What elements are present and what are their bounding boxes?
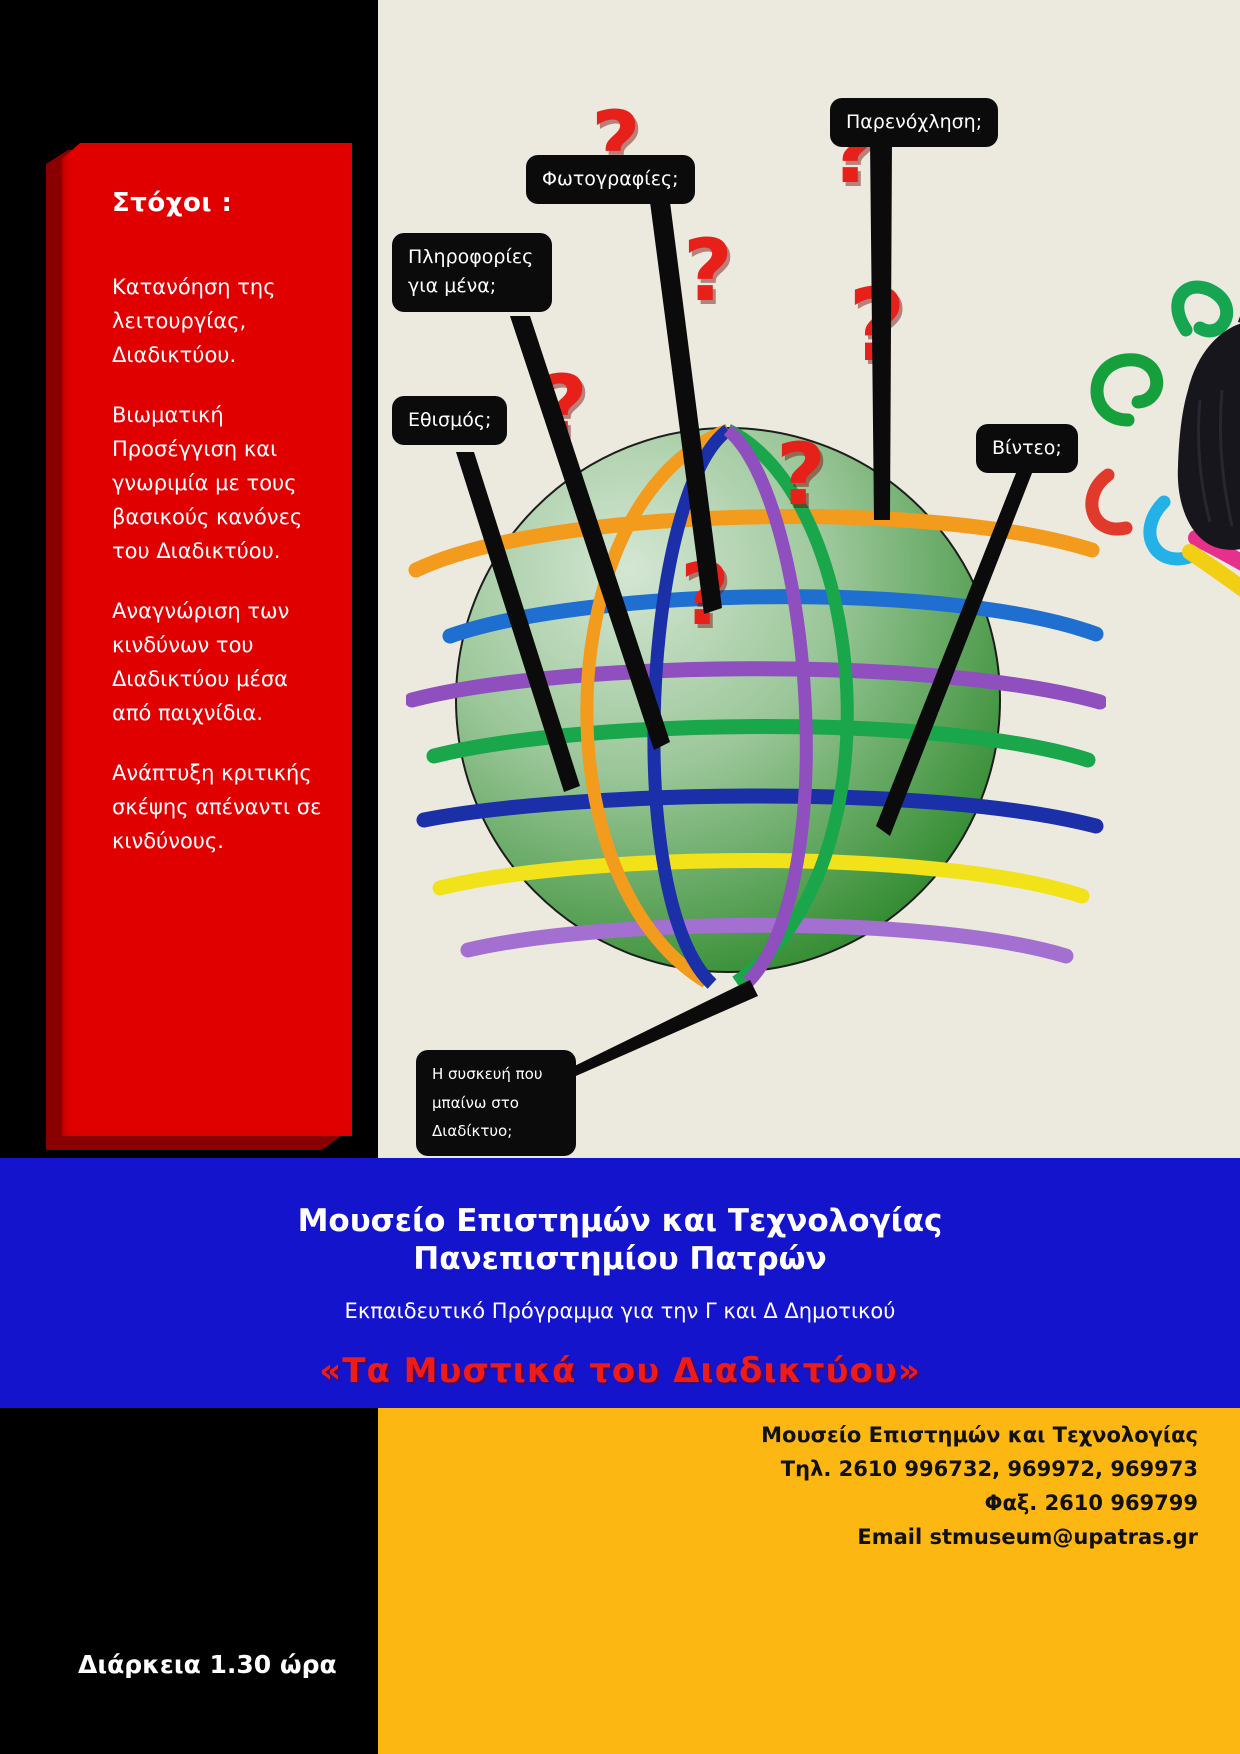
duration-text: Διάρκεια 1.30 ώρα [78,1650,337,1679]
contact-line-1: Μουσείο Επιστημών και Τεχνολογίας [498,1418,1198,1452]
artwork-panel: ? ? ? ? ? ? ? Παρενόχληση; Φωτογραφίες; … [378,0,1240,1158]
contact-line-4: Email stmuseum@upatras.gr [498,1520,1198,1554]
contact-info: Μουσείο Επιστημών και Τεχνολογίας Τηλ. 2… [498,1418,1198,1554]
goals-content: Στόχοι : Κατανόηση της λειτουργίας, Διαδ… [112,188,327,884]
footer-blue-band: Μουσείο Επιστημών και Τεχνολογίας Πανεπι… [0,1158,1240,1408]
goals-box: Στόχοι : Κατανόηση της λειτουργίας, Διαδ… [62,143,352,1136]
callout-addiction[interactable]: Εθισμός; [392,396,507,445]
callout-harassment[interactable]: Παρενόχληση; [830,98,998,147]
callout-info-about-me[interactable]: Πληροφορίες για μένα; [392,233,552,312]
callout-photos[interactable]: Φωτογραφίες; [526,155,695,204]
organization-line-2: Πανεπιστημίου Πατρών [0,1241,1240,1279]
program-subtitle: Εκπαιδευτικό Πρόγραμμα για την Γ και Δ Δ… [0,1299,1240,1323]
callout-tails [378,0,1240,1158]
organization-line-1: Μουσείο Επιστημών και Τεχνολογίας [0,1158,1240,1241]
poster-root: Στόχοι : Κατανόηση της λειτουργίας, Διαδ… [0,0,1240,1754]
goal-item-2: Βιωματική Προσέγγιση και γνωριμία με του… [112,398,327,568]
contact-line-2: Τηλ. 2610 996732, 969972, 969973 [498,1452,1198,1486]
program-title: «Τα Μυστικά του Διαδικτύου» [0,1351,1240,1391]
contact-line-3: Φαξ. 2610 969799 [498,1486,1198,1520]
goal-item-3: Αναγνώριση των κινδύνων του Διαδικτύου μ… [112,594,327,730]
goal-item-1: Κατανόηση της λειτουργίας, Διαδικτύου. [112,270,327,372]
goals-heading: Στόχοι : [112,188,327,218]
callout-device[interactable]: Η συσκευή που μπαίνω στο Διαδίκτυο; [416,1050,576,1156]
goal-item-4: Ανάπτυξη κριτικής σκέψης απέναντι σε κιν… [112,756,327,858]
callout-video[interactable]: Βίντεο; [976,424,1078,473]
